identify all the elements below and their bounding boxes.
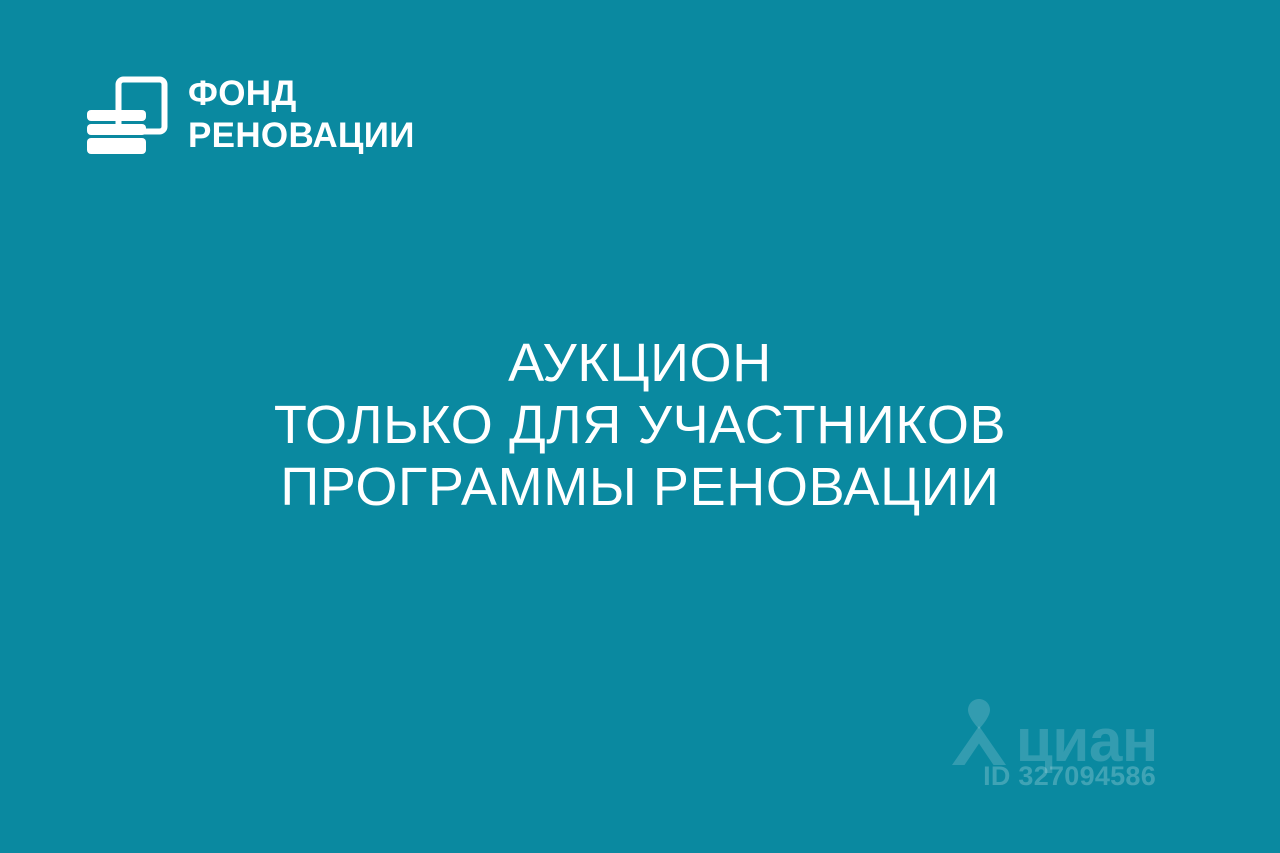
brand-wordmark: ФОНД РЕНОВАЦИИ	[188, 73, 415, 157]
listing-id-label: ID 327094586	[983, 761, 1156, 791]
brand-lockup: ФОНД РЕНОВАЦИИ	[84, 72, 415, 158]
cian-watermark-row: циан	[948, 699, 1158, 765]
headline-line-1: АУКЦИОН	[40, 332, 1240, 394]
listing-banner-image: ФОНД РЕНОВАЦИИ АУКЦИОН ТОЛЬКО ДЛЯ УЧАСТН…	[0, 0, 1280, 853]
cian-watermark: циан ID 327094586	[948, 699, 1158, 791]
headline-block: АУКЦИОН ТОЛЬКО ДЛЯ УЧАСТНИКОВ ПРОГРАММЫ …	[0, 332, 1280, 518]
cian-brand-text: циан	[1016, 714, 1158, 768]
cian-pin-roof-icon	[948, 699, 1010, 765]
brand-name-line-2: РЕНОВАЦИИ	[188, 115, 415, 157]
headline-line-2: ТОЛЬКО ДЛЯ УЧАСТНИКОВ	[40, 394, 1240, 456]
stacked-documents-icon	[84, 72, 170, 158]
brand-name-line-1: ФОНД	[188, 73, 415, 115]
headline-line-3: ПРОГРАММЫ РЕНОВАЦИИ	[40, 456, 1240, 518]
